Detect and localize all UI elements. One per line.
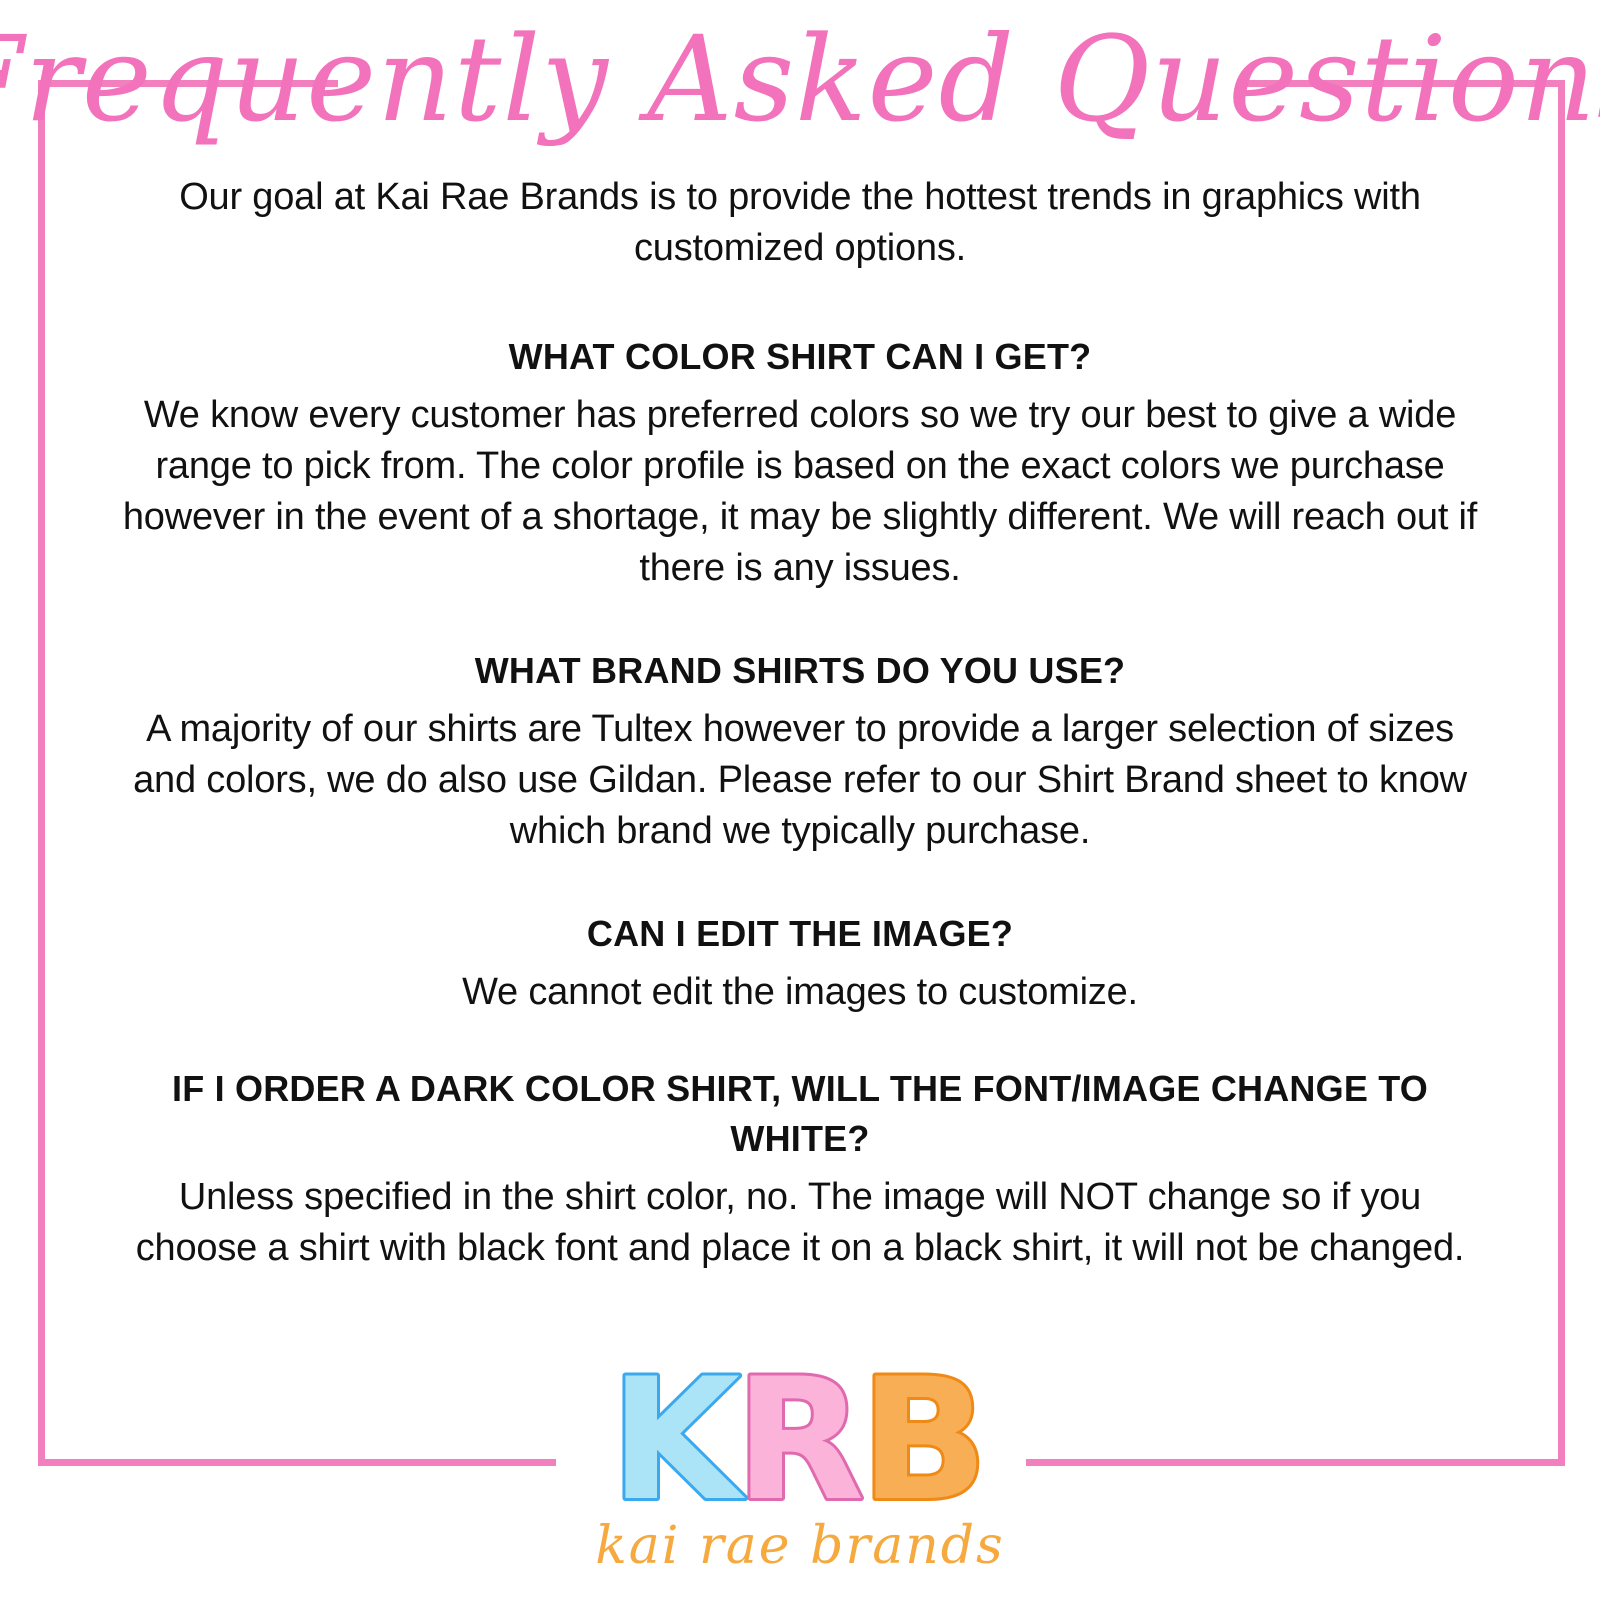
frame-right-border — [1558, 80, 1565, 1466]
brand-logo: K R B kai rae brands — [590, 1338, 1010, 1588]
logo-tagline: kai rae brands — [595, 1516, 1004, 1576]
faq-item: CAN I EDIT THE IMAGE? We cannot edit the… — [110, 909, 1490, 1018]
spacer — [110, 1018, 1490, 1064]
faq-content: Our goal at Kai Rae Brands is to provide… — [110, 172, 1490, 1274]
page-title-text: Frequently Asked Questions — [0, 10, 1600, 148]
faq-question: WHAT COLOR SHIRT CAN I GET? — [110, 332, 1490, 382]
faq-answer: Unless specified in the shirt color, no.… — [110, 1172, 1490, 1274]
intro-paragraph: Our goal at Kai Rae Brands is to provide… — [110, 172, 1490, 274]
spacer — [110, 594, 1490, 646]
faq-answer: A majority of our shirts are Tultex howe… — [110, 704, 1490, 857]
faq-question: IF I ORDER A DARK COLOR SHIRT, WILL THE … — [110, 1064, 1490, 1164]
logo-letter-k-icon: K — [610, 1342, 746, 1538]
spacer — [110, 857, 1490, 909]
faq-question: CAN I EDIT THE IMAGE? — [110, 909, 1490, 959]
frame-bottom-left-rule — [38, 1459, 556, 1466]
faq-item: IF I ORDER A DARK COLOR SHIRT, WILL THE … — [110, 1064, 1490, 1274]
logo-letter-r-icon: R — [735, 1342, 864, 1538]
frame-bottom-right-rule — [1026, 1459, 1565, 1466]
frame-left-border — [38, 80, 45, 1466]
page-title: Frequently Asked Questions — [0, 8, 1600, 158]
faq-answer: We know every customer has preferred col… — [110, 390, 1490, 594]
faq-item: WHAT BRAND SHIRTS DO YOU USE? A majority… — [110, 646, 1490, 857]
faq-item: WHAT COLOR SHIRT CAN I GET? We know ever… — [110, 332, 1490, 594]
spacer — [110, 274, 1490, 332]
logo-letter-b-icon: B — [860, 1342, 988, 1538]
faq-answer: We cannot edit the images to customize. — [110, 967, 1490, 1018]
faq-question: WHAT BRAND SHIRTS DO YOU USE? — [110, 646, 1490, 696]
